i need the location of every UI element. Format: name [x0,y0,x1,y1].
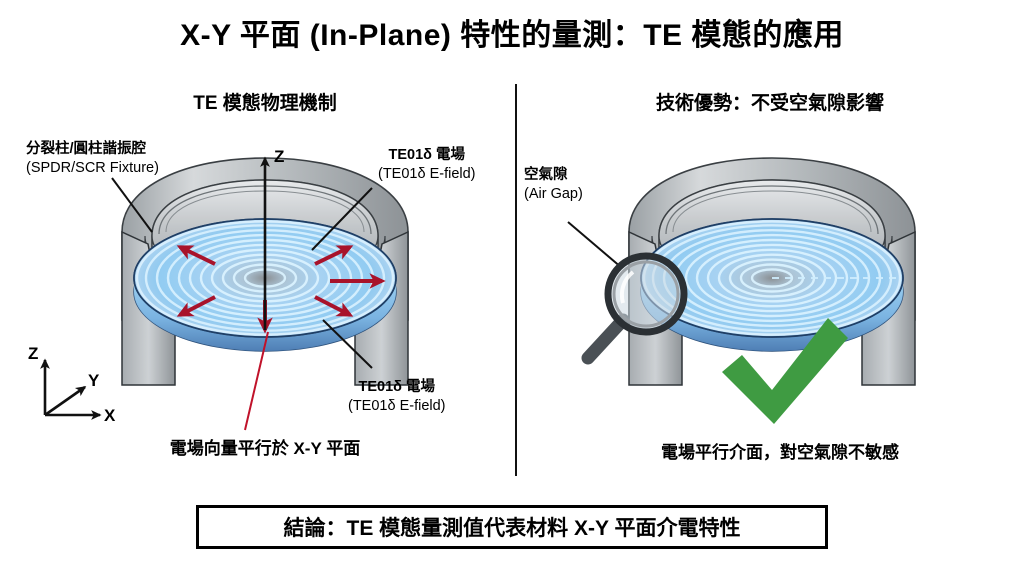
magnifier-icon [588,256,684,358]
axis-label-y: Y [88,370,99,392]
right-field-rings [644,221,900,334]
left-field-rings [137,221,393,334]
label-efield-bottom-line2: (TE01δ E-field) [348,397,446,416]
right-panel-subtitle: 技術優勢：不受空氣隙影響 [580,88,960,115]
e-field-arrows [180,247,382,330]
label-efield-bottom-line1: TE01δ 電場 [348,378,446,397]
label-efield-top-line1: TE01δ 電場 [378,146,476,165]
axis-label-z: Z [28,343,38,365]
leader-lines [112,178,372,368]
label-air-gap-line1: 空氣隙 [524,166,583,185]
red-leader-line [245,332,268,430]
label-air-gap: 空氣隙 (Air Gap) [524,166,583,203]
left-panel-caption: 電場向量平行於 X-Y 平面 [85,434,445,459]
diagram-canvas: X-Y 平面 (In-Plane) 特性的量測：TE 模態的應用 TE 模態物理… [0,0,1024,572]
green-check-icon [722,318,848,424]
label-air-gap-line2: (Air Gap) [524,185,583,204]
label-efield-top: TE01δ 電場 (TE01δ E-field) [378,146,476,183]
right-panel-caption: 電場平行介面，對空氣隙不敏感 [590,438,970,463]
left-panel-subtitle: TE 模態物理機制 [95,88,435,115]
air-gap-leader [568,222,622,268]
right-resonator-illustration [568,158,915,424]
label-fixture-line2: (SPDR/SCR Fixture) [26,159,159,178]
label-efield-bottom: TE01δ 電場 (TE01δ E-field) [348,378,446,415]
page-title: X-Y 平面 (In-Plane) 特性的量測：TE 模態的應用 [0,18,1024,54]
panel-divider [515,84,517,476]
label-fixture: 分裂柱/圓柱諧振腔 (SPDR/SCR Fixture) [26,140,159,177]
label-fixture-line1: 分裂柱/圓柱諧振腔 [26,140,159,159]
label-z-axis: Z [274,146,284,168]
axis-label-x: X [104,405,115,427]
label-efield-top-line2: (TE01δ E-field) [378,165,476,184]
conclusion-box: 結論：TE 模態量測值代表材料 X-Y 平面介電特性 [196,505,828,549]
diagram-artwork [0,0,1024,572]
